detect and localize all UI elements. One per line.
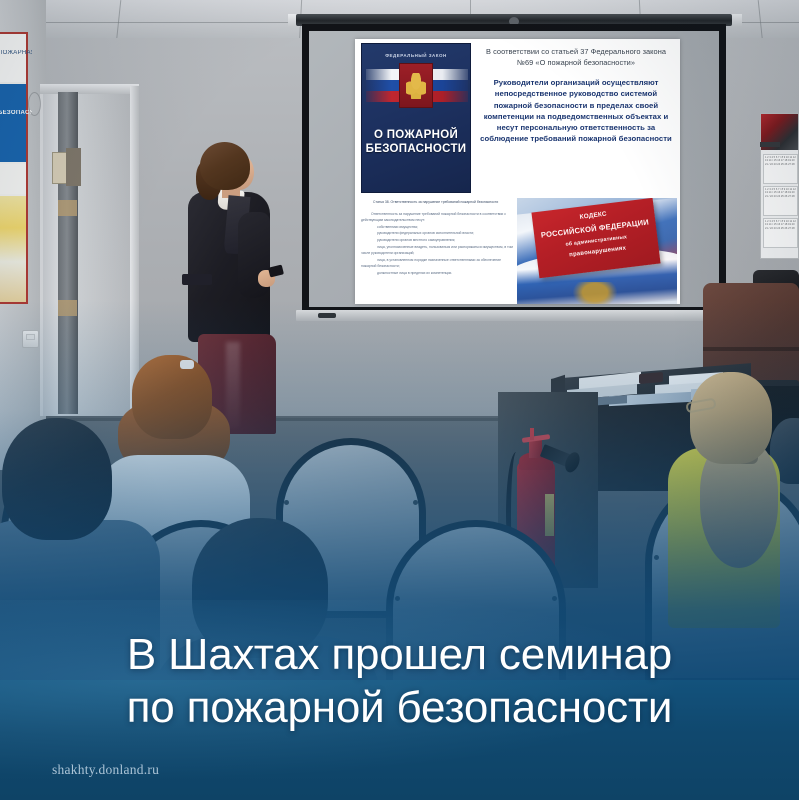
- slide-body-text: Руководители организаций осуществляют не…: [477, 77, 675, 144]
- site-url[interactable]: shakhty.donland.ru: [52, 762, 159, 778]
- door-header: [40, 84, 139, 94]
- hair-clip: [180, 360, 194, 369]
- open-door: [58, 92, 78, 414]
- screen-bar-clip: [318, 313, 336, 318]
- info-board-line-mid: БЕЗОПАСНОСТЬ: [0, 110, 32, 116]
- doorway: [40, 86, 136, 416]
- law-heading: Статья 38. Ответственность за нарушение …: [361, 199, 516, 206]
- slide-text-block: В соответствии со статьей 37 Федеральног…: [477, 47, 675, 144]
- headline-line-2: по пожарной безопасности: [0, 681, 799, 734]
- book-title-line2: БЕЗОПАСНОСТИ: [362, 142, 470, 156]
- coat-of-arms-watermark-icon: [573, 282, 617, 304]
- law-paragraph: Ответственность за нарушение требований …: [361, 211, 516, 224]
- wall-calendar: 1 2 3 4 5 6 7 / 8 9 10 11 12 13 14 / 15 …: [760, 113, 799, 259]
- info-board-line-top: ПОЖАРНАЯ: [0, 50, 32, 56]
- light-switch[interactable]: [22, 330, 39, 348]
- law-item: собственники имущества;: [361, 224, 516, 231]
- law-item: лица, уполномоченные владеть, пользовать…: [361, 244, 516, 257]
- presentation-remote: [268, 264, 284, 277]
- audience-member-head: [690, 372, 772, 464]
- federal-law-book-cover: ФЕДЕРАЛЬНЫЙ ЗАКОН О ПОЖАРНОЙ БЕЗОПАСНОСТ…: [361, 43, 471, 193]
- book-title-line1: О ПОЖАРНОЙ: [362, 128, 470, 142]
- desk-object: [639, 372, 663, 384]
- presentation-slide: ФЕДЕРАЛЬНЫЙ ЗАКОН О ПОЖАРНОЙ БЕЗОПАСНОСТ…: [355, 39, 680, 304]
- law-item: руководители органов местного самоуправл…: [361, 237, 516, 244]
- screen-bottom-bar: [296, 310, 732, 321]
- russian-coat-of-arms-icon: [399, 63, 433, 108]
- calendar-month-block: 1 2 3 4 5 6 7 / 8 9 10 11 12 13 14 / 15 …: [763, 218, 798, 248]
- law-item: лица, в установленном порядке назначенны…: [361, 257, 516, 270]
- audience-member-head: [2, 418, 112, 540]
- jacket-pocket: [182, 274, 212, 285]
- law-item: руководители федеральных органов исполни…: [361, 230, 516, 237]
- wall-information-board: ПОЖАРНАЯ БЕЗОПАСНОСТЬ: [0, 32, 28, 304]
- calendar-month-block: 1 2 3 4 5 6 7 / 8 9 10 11 12 13 14 / 15 …: [763, 186, 798, 216]
- book-kicker: ФЕДЕРАЛЬНЫЙ ЗАКОН: [362, 53, 470, 58]
- presenter-hair: [200, 142, 250, 190]
- book-title: О ПОЖАРНОЙ БЕЗОПАСНОСТИ: [362, 128, 470, 156]
- audience-member-head: [132, 355, 212, 439]
- slide-law-article-text: Статья 38. Ответственность за нарушение …: [361, 199, 516, 299]
- law-item: должностные лица в пределах их компетенц…: [361, 270, 516, 277]
- calendar-hook: [760, 142, 780, 147]
- door-frame-edge: [130, 86, 139, 418]
- slide-intro-text: В соответствии со статьей 37 Федеральног…: [477, 47, 675, 68]
- news-banner-image: ПОЖАРНАЯ БЕЗОПАСНОСТЬ ФЕДЕРАЛЬНЫЙ ЗАКОН …: [0, 0, 799, 800]
- headline-line-1: В Шахтах прошел семинар: [0, 628, 799, 681]
- extinguisher-safety-pin: [530, 428, 534, 440]
- banner-headline: В Шахтах прошел семинар по пожарной безо…: [0, 628, 799, 734]
- calendar-month-block: 1 2 3 4 5 6 7 / 8 9 10 11 12 13 14 / 15 …: [763, 154, 798, 184]
- door-lock: [66, 148, 81, 186]
- administrative-code-image: КОДЕКС РОССИЙСКОЙ ФЕДЕРАЦИИ об администр…: [517, 198, 677, 304]
- wall-fixture: [28, 92, 41, 116]
